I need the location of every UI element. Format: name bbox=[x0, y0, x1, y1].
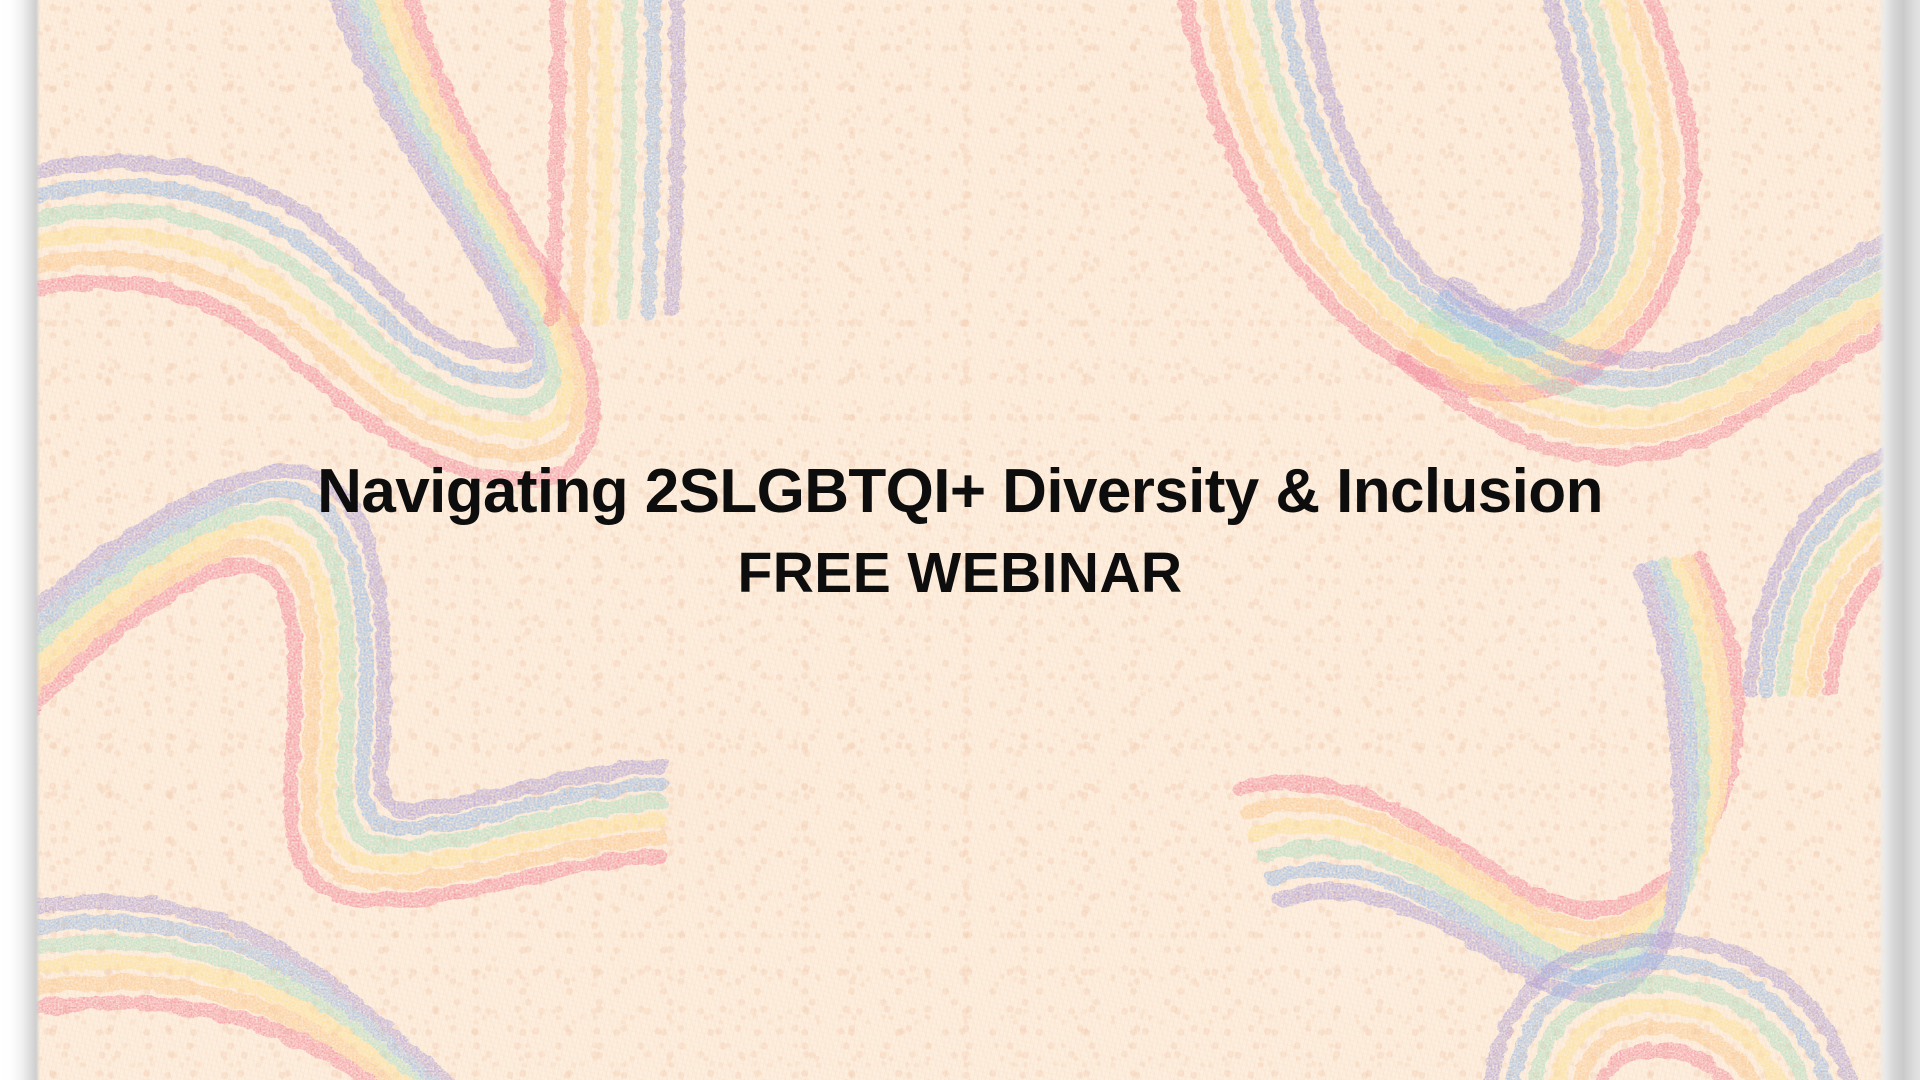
ribbon-right-mid-fragment bbox=[1750, 420, 1920, 690]
ribbon-top-center bbox=[552, 0, 678, 320]
ribbon-bottom-left-hook bbox=[0, 471, 660, 900]
webinar-slide: Navigating 2SLGBTQI+ Diversity & Inclusi… bbox=[0, 0, 1920, 1080]
ribbon-bottom-left-edge bbox=[0, 902, 570, 1080]
rainbow-ribbon-decoration bbox=[0, 0, 1920, 1080]
ribbon-top-left bbox=[0, 0, 593, 480]
ribbon-bottom-right-wave bbox=[1240, 560, 1737, 995]
